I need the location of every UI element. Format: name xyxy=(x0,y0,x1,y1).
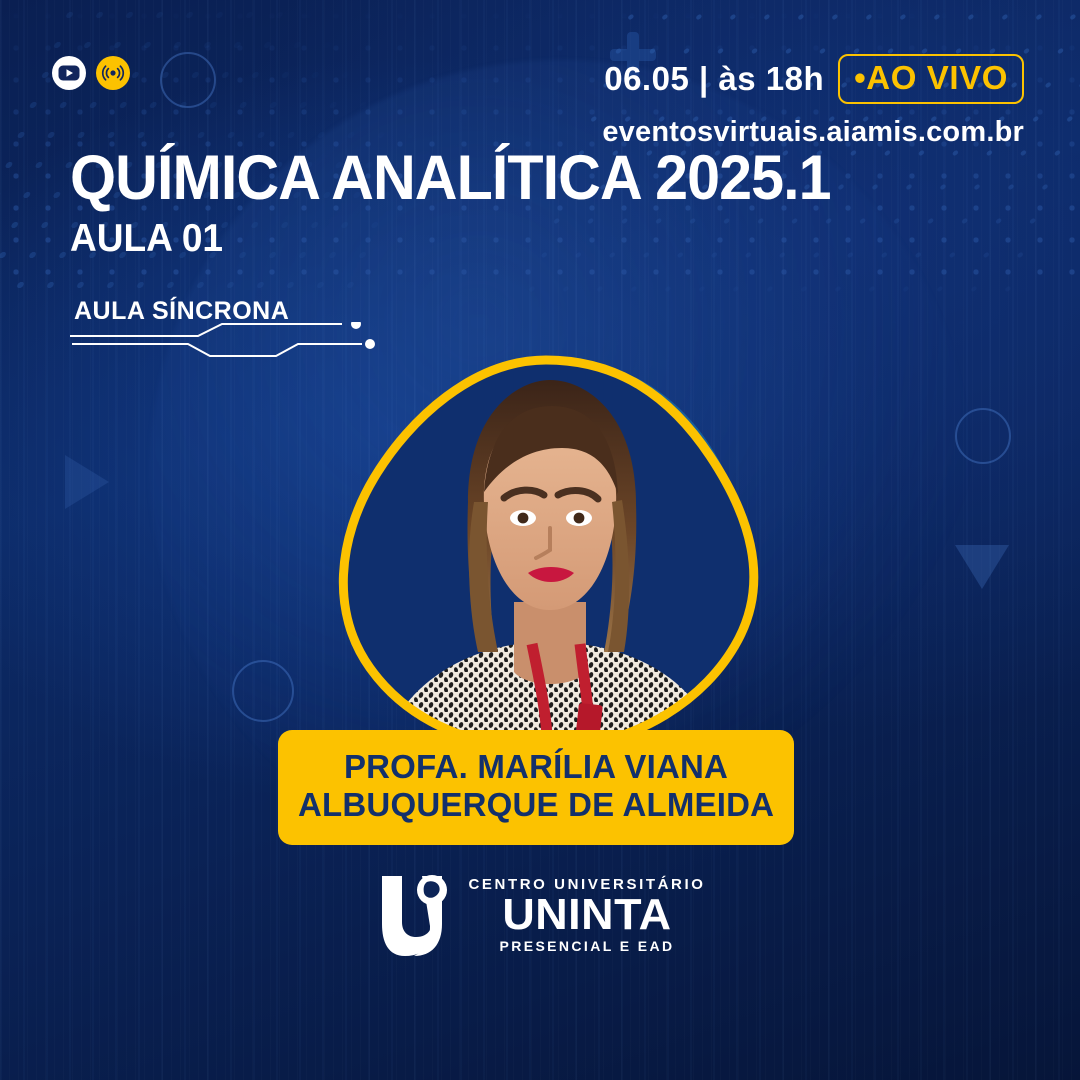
speaker-name-line-2: ALBUQUERQUE DE ALMEIDA xyxy=(298,786,774,824)
speaker-photo xyxy=(318,352,778,772)
uninta-logo: CENTRO UNIVERSITÁRIO UNINTA PRESENCIAL E… xyxy=(0,872,1080,958)
triangle-outline-decoration-1 xyxy=(955,545,1009,589)
live-badge: •AO VIVO xyxy=(838,54,1024,104)
header-info-block: 06.05 | às 18h •AO VIVO eventosvirtuais.… xyxy=(602,54,1024,149)
speaker-name-banner: PROFA. MARÍLIA VIANA ALBUQUERQUE DE ALME… xyxy=(278,730,794,845)
speaker-name-line-1: PROFA. MARÍLIA VIANA xyxy=(298,748,774,786)
youtube-play-icon[interactable] xyxy=(52,56,86,90)
page-title: QUÍMICA ANALÍTICA 2025.1 xyxy=(70,147,831,210)
circle-outline-decoration-3 xyxy=(955,408,1011,464)
logo-bottom-text: PRESENCIAL E EAD xyxy=(499,939,674,953)
uninta-logo-text: CENTRO UNIVERSITÁRIO UNINTA PRESENCIAL E… xyxy=(468,877,705,952)
live-broadcast-icon[interactable] xyxy=(96,56,130,90)
uninta-u-mark-icon xyxy=(374,872,454,958)
social-icon-group xyxy=(52,56,130,90)
page-subtitle: AULA 01 xyxy=(70,219,223,258)
logo-name-text: UNINTA xyxy=(502,892,671,938)
circle-outline-decoration-2 xyxy=(232,660,294,722)
speaker-portrait xyxy=(318,352,778,772)
event-announcement-card: 06.05 | às 18h •AO VIVO eventosvirtuais.… xyxy=(0,0,1080,1080)
triangle-outline-decoration-2 xyxy=(65,455,109,509)
date-and-live-row: 06.05 | às 18h •AO VIVO xyxy=(602,54,1024,104)
circle-outline-decoration-1 xyxy=(160,52,216,108)
event-date-time: 06.05 | às 18h xyxy=(604,60,824,98)
